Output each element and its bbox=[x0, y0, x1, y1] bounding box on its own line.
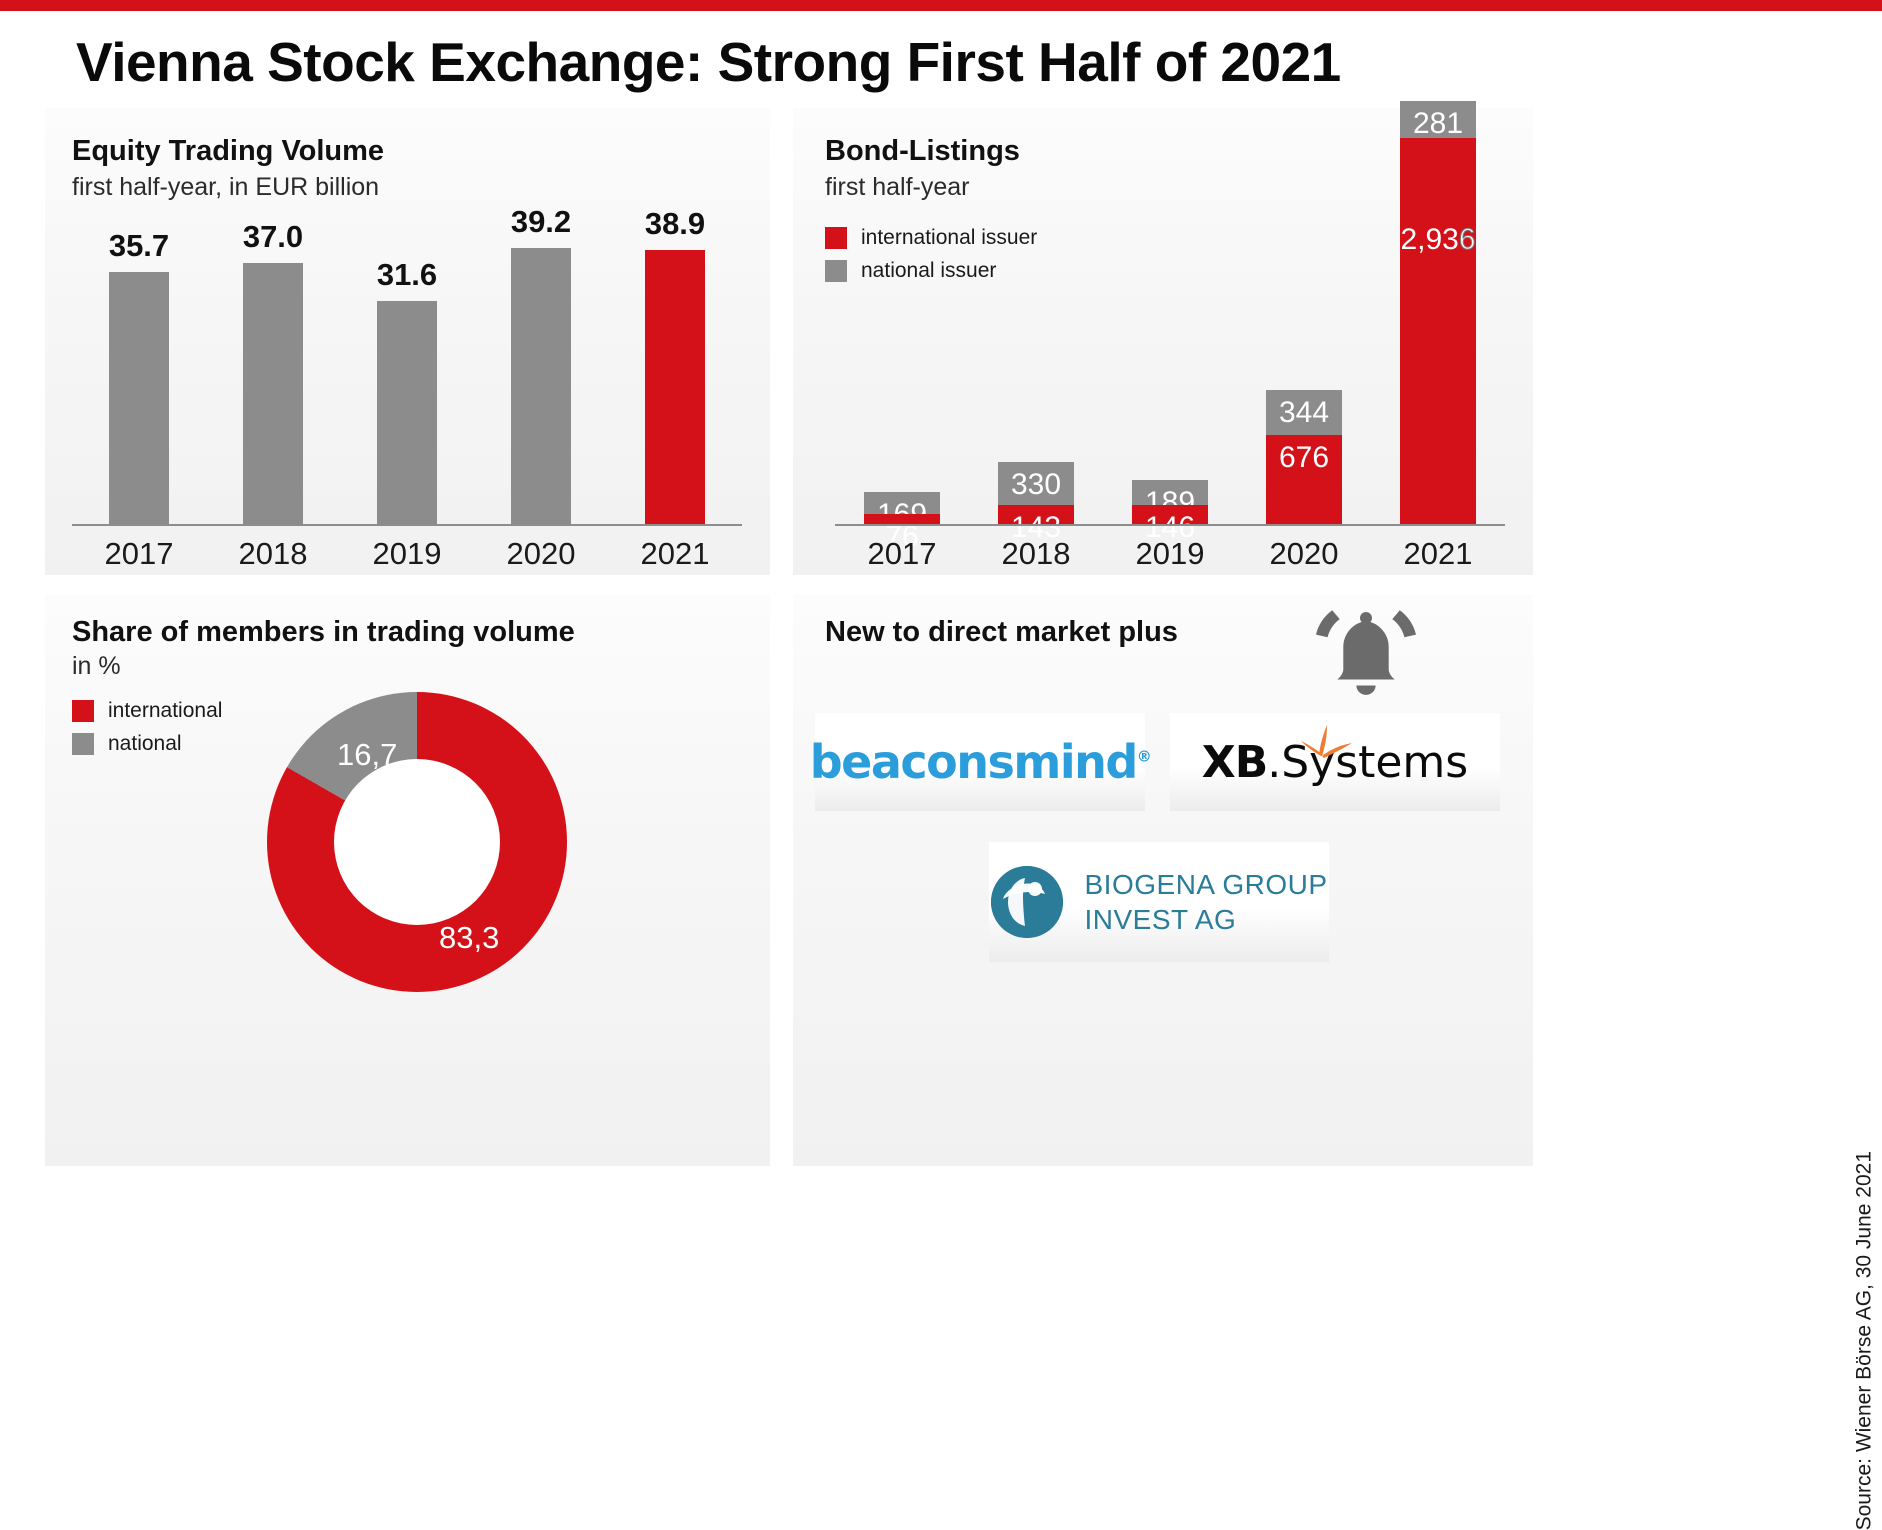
bonds-x-label-2020: 2020 bbox=[1234, 536, 1374, 572]
bonds-value-national-2018: 330 bbox=[998, 468, 1074, 502]
bonds-segment-international-2020: 676 bbox=[1266, 435, 1342, 524]
bonds-stacked-bar-chart: 169763301431891463446762812,936 bbox=[835, 90, 1505, 524]
xb-logo-bold: XB bbox=[1202, 737, 1267, 788]
equity-panel-subtitle: first half-year, in EUR billion bbox=[72, 173, 379, 202]
bonds-x-label-2017: 2017 bbox=[832, 536, 972, 572]
bonds-bar-2019: 189146 bbox=[1132, 480, 1208, 524]
donut-label-international: 83,3 bbox=[439, 920, 499, 956]
share-donut-chart: 16,7 83,3 bbox=[267, 692, 567, 992]
bonds-x-label-2018: 2018 bbox=[966, 536, 1106, 572]
biogena-line-2: INVEST AG bbox=[1085, 904, 1237, 935]
dmp-panel-title: New to direct market plus bbox=[825, 616, 1178, 649]
bonds-value-national-2020: 344 bbox=[1266, 396, 1342, 430]
bonds-value-international-2020: 676 bbox=[1266, 441, 1342, 475]
orange-star-icon bbox=[1297, 725, 1359, 759]
source-note: Source: Wiener Börse AG, 30 June 2021 bbox=[1852, 1151, 1876, 1530]
panel-equity-trading-volume: Equity Trading Volume first half-year, i… bbox=[45, 108, 770, 575]
bonds-bar-2021: 2812,936 bbox=[1400, 101, 1476, 524]
bonds-segment-national-2021: 281 bbox=[1400, 101, 1476, 138]
legend-swatch-national-icon bbox=[72, 733, 94, 755]
equity-bar-chart: 35.737.031.639.238.9 bbox=[72, 228, 742, 524]
bell-icon bbox=[1301, 596, 1431, 713]
biogena-logo-text: BIOGENA GROUP INVEST AG bbox=[1085, 867, 1328, 937]
bonds-segment-international-2019: 146 bbox=[1132, 505, 1208, 524]
bonds-segment-international-2018: 143 bbox=[998, 505, 1074, 524]
equity-x-axis bbox=[72, 524, 742, 526]
equity-bar-value-2018: 37.0 bbox=[203, 219, 343, 255]
bonds-bar-2020: 344676 bbox=[1266, 390, 1342, 524]
bonds-x-label-2019: 2019 bbox=[1100, 536, 1240, 572]
share-legend-item-national: national bbox=[72, 732, 222, 756]
bonds-x-axis bbox=[835, 524, 1505, 526]
equity-x-label-2019: 2019 bbox=[337, 536, 477, 572]
bonds-value-international-2021: 2,936 bbox=[1400, 223, 1476, 257]
share-legend-label-national: national bbox=[108, 732, 182, 756]
bonds-bar-2017: 16976 bbox=[864, 492, 940, 524]
bonds-segment-national-2019: 189 bbox=[1132, 480, 1208, 505]
xb-systems-logo: XB.Systems bbox=[1202, 737, 1468, 788]
share-panel-subtitle: in % bbox=[72, 652, 121, 681]
equity-bar-value-2020: 39.2 bbox=[471, 204, 611, 240]
biogena-mark-icon bbox=[991, 866, 1063, 938]
share-legend-label-international: international bbox=[108, 699, 222, 723]
legend-swatch-international-icon bbox=[72, 700, 94, 722]
biogena-logo: BIOGENA GROUP INVEST AG bbox=[991, 866, 1328, 938]
equity-bar-value-2017: 35.7 bbox=[69, 228, 209, 264]
share-legend: international national bbox=[72, 699, 222, 765]
logo-card-biogena: BIOGENA GROUP INVEST AG bbox=[989, 842, 1329, 962]
equity-bar-value-2019: 31.6 bbox=[337, 257, 477, 293]
top-accent-rule bbox=[0, 0, 1882, 11]
panel-bond-listings: Bond-Listings first half-year internatio… bbox=[793, 108, 1533, 575]
equity-bar-2017 bbox=[109, 272, 169, 524]
equity-bar-2018 bbox=[243, 263, 303, 524]
equity-bar-2021 bbox=[645, 250, 705, 524]
equity-bar-2020 bbox=[511, 248, 571, 524]
beaconsmind-logo: beaconsmind® bbox=[810, 735, 1151, 789]
equity-x-label-2017: 2017 bbox=[69, 536, 209, 572]
share-panel-title: Share of members in trading volume bbox=[72, 616, 575, 649]
registered-trademark-icon: ® bbox=[1137, 748, 1151, 766]
donut-hole bbox=[334, 759, 500, 925]
biogena-line-1: BIOGENA GROUP bbox=[1085, 869, 1328, 900]
share-legend-item-international: international bbox=[72, 699, 222, 723]
bonds-bar-2018: 330143 bbox=[998, 462, 1074, 524]
bonds-x-label-2021: 2021 bbox=[1368, 536, 1508, 572]
panel-share-of-members: Share of members in trading volume in % … bbox=[45, 594, 770, 1166]
equity-x-label-2021: 2021 bbox=[605, 536, 745, 572]
logo-card-xb-systems: XB.Systems bbox=[1170, 713, 1500, 811]
logo-card-beaconsmind: beaconsmind® bbox=[815, 713, 1145, 811]
equity-bar-2019 bbox=[377, 301, 437, 524]
equity-bar-value-2021: 38.9 bbox=[605, 206, 745, 242]
page-title: Vienna Stock Exchange: Strong First Half… bbox=[76, 30, 1341, 94]
equity-x-label-2020: 2020 bbox=[471, 536, 611, 572]
bonds-value-overflow-digit: 6 bbox=[1459, 223, 1476, 256]
panel-new-to-direct-market-plus: New to direct market plus beaconsmind® X… bbox=[793, 594, 1533, 1166]
bonds-segment-international-2017: 76 bbox=[864, 514, 940, 524]
donut-label-national: 16,7 bbox=[337, 737, 397, 773]
bonds-value-national-2021: 281 bbox=[1400, 107, 1476, 141]
bonds-segment-international-2021: 2,936 bbox=[1400, 138, 1476, 524]
equity-panel-title: Equity Trading Volume bbox=[72, 135, 384, 168]
bonds-segment-national-2017: 169 bbox=[864, 492, 940, 514]
equity-x-label-2018: 2018 bbox=[203, 536, 343, 572]
bonds-segment-national-2018: 330 bbox=[998, 462, 1074, 505]
bonds-segment-national-2020: 344 bbox=[1266, 390, 1342, 435]
